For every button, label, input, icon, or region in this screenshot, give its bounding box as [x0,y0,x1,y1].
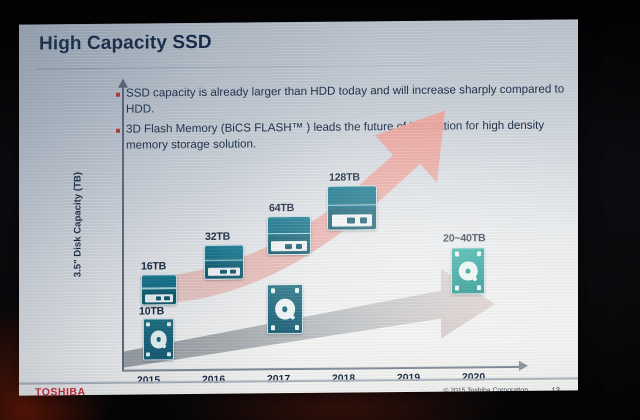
footer-divider [19,377,578,384]
y-axis-line [122,86,124,372]
hdd-icon-20-40tb [451,247,485,294]
bullet-text: SSD capacity is already larger than HDD … [126,81,566,116]
capacity-label-ssd-64tb: 64TB [269,202,294,214]
capacity-label-ssd-32tb: 32TB [205,231,230,243]
list-item: 3D Flash Memory (BiCS FLASH™ ) leads the… [116,117,566,152]
capacity-label-hdd-10tb: 10TB [139,305,164,317]
projector-scanlines-overlay [19,19,578,395]
capacity-label-ssd-16tb: 16TB [141,260,166,272]
hdd-icon-10tb [143,318,174,360]
bullet-square-icon [116,129,120,133]
x-axis-line [122,366,522,371]
y-axis-label: 3.5" Disk Capacity (TB) [73,160,84,290]
ssd-icon-128tb [327,185,377,230]
slide-header: High Capacity SSD [19,19,578,66]
x-axis-arrowhead [519,361,528,371]
projected-slide-photo: High Capacity SSD SSD capacity is alread… [0,0,640,420]
ssd-icon-16tb [141,274,177,305]
capacity-label-ssd-128tb: 128TB [329,171,360,183]
ssd-icon-32tb [204,245,244,280]
bullet-text: 3D Flash Memory (BiCS FLASH™ ) leads the… [126,117,566,152]
bullet-list: SSD capacity is already larger than HDD … [116,81,566,157]
ssd-icon-64tb [267,216,311,255]
brand-name: TOSHIBA [35,386,86,396]
hdd-icon-64tb [267,284,303,334]
capacity-label-hdd-20-40tb: 20~40TB [443,232,485,244]
page-title: High Capacity SSD [39,32,212,56]
projector-hotspot-overlay [19,19,578,395]
list-item: SSD capacity is already larger than HDD … [116,81,566,116]
toshiba-logo: TOSHIBA Leading Innovation >>> [35,386,86,396]
bullet-square-icon [116,93,120,97]
projector-shadow-overlay [19,19,578,395]
presentation-slide: High Capacity SSD SSD capacity is alread… [19,19,578,395]
